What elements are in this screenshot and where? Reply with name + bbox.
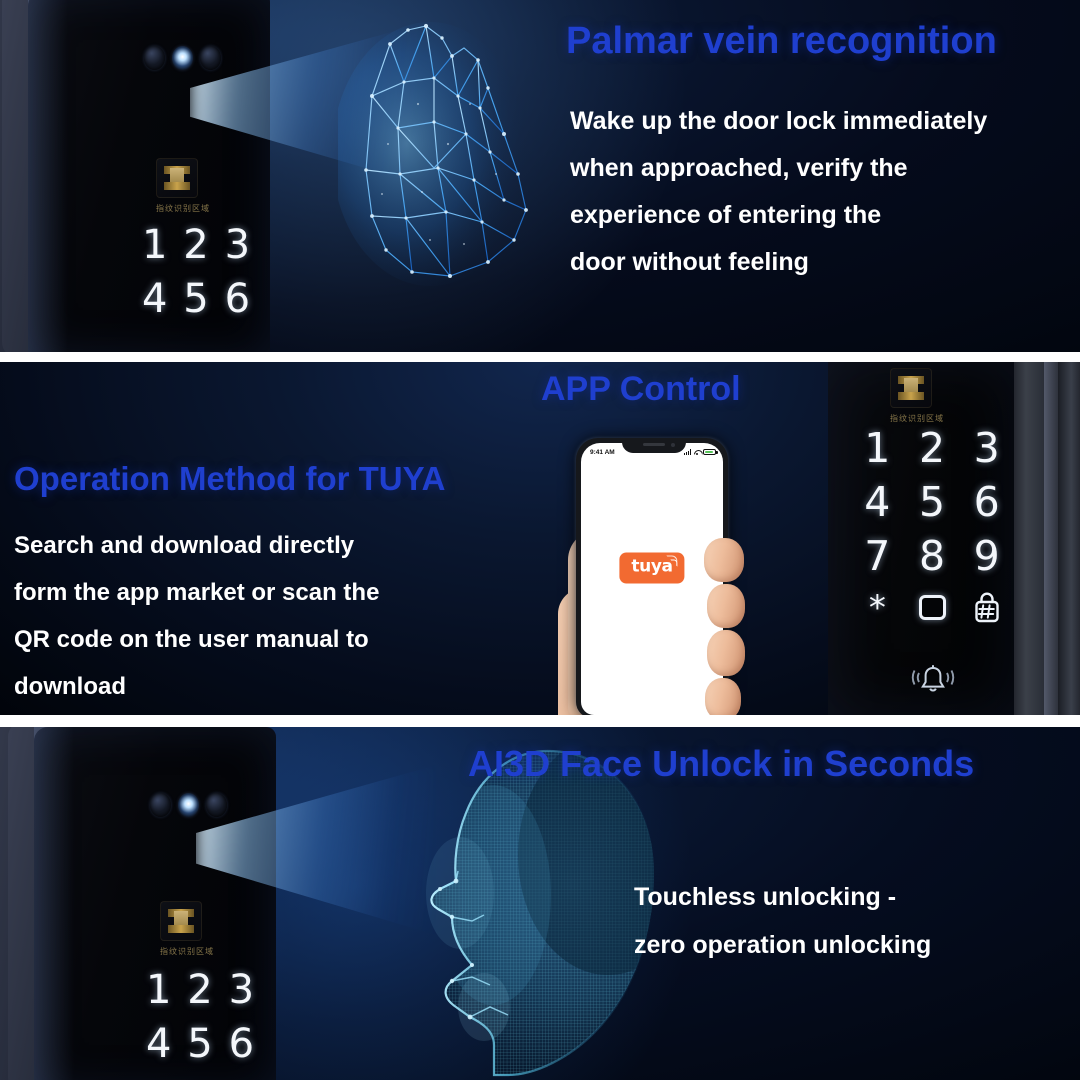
panel-face-unlock: 指纹识别区域 123 456 xyxy=(0,727,1080,1080)
body-line-1: Touchless unlocking - xyxy=(634,873,931,921)
key-3[interactable]: 3 xyxy=(221,967,262,1013)
panel-palmar-vein: 指纹识别区域 123 456 xyxy=(0,0,1080,352)
key-6[interactable]: 6 xyxy=(221,1021,262,1067)
doorbell-button-mid[interactable] xyxy=(907,662,959,701)
lock-hash-icon xyxy=(972,592,1002,623)
body-line-2: when approached, verify the xyxy=(570,145,987,192)
headline-app-control: APP Control xyxy=(541,370,741,409)
headline-face-unlock: AI3D Face Unlock in Seconds xyxy=(468,743,974,785)
panel-app-control: APP Control Operation Method for TUYA Se… xyxy=(0,362,1080,715)
key-9[interactable]: 9 xyxy=(959,532,1014,580)
key-star[interactable]: * xyxy=(850,593,905,623)
smartphone-in-hand: 9:41 AM tuya xyxy=(568,438,740,715)
key-1[interactable]: 1 xyxy=(134,222,175,268)
key-5[interactable]: 5 xyxy=(179,1021,220,1067)
body-line-1: Wake up the door lock immediately xyxy=(570,98,987,145)
key-6[interactable]: 6 xyxy=(217,276,258,322)
headline-palmar-vein: Palmar vein recognition xyxy=(566,20,997,63)
key-5[interactable]: 5 xyxy=(175,276,216,322)
body-text-palmar-vein: Wake up the door lock immediately when a… xyxy=(570,98,987,286)
ir-sensor-icon xyxy=(150,793,171,817)
earpiece-speaker xyxy=(643,443,665,446)
battery-icon xyxy=(703,449,716,456)
door-lock-device-bottom: 指纹识别区域 123 456 xyxy=(0,727,272,1080)
body-line-3: QR code on the user manual to xyxy=(14,616,379,663)
key-hash-lock[interactable] xyxy=(959,592,1014,623)
rgb-camera-icon xyxy=(200,46,221,70)
tuya-app-logo: tuya xyxy=(619,553,684,584)
body-line-1: Search and download directly xyxy=(14,522,379,569)
finger-1 xyxy=(704,538,744,582)
front-camera-icon xyxy=(671,443,675,447)
key-4[interactable]: 4 xyxy=(134,276,175,322)
key-2[interactable]: 2 xyxy=(905,424,960,472)
door-lock-device-top: 指纹识别区域 123 456 xyxy=(0,0,266,352)
keypad-mid: 123 456 789 * xyxy=(850,424,1014,623)
key-2[interactable]: 2 xyxy=(179,967,220,1013)
ir-emitter-icon xyxy=(178,793,199,817)
finger-4 xyxy=(705,678,741,715)
camera-sensor-array-top xyxy=(144,46,221,70)
fingerprint-sensor-mid: 指纹识别区域 xyxy=(890,368,944,424)
key-3[interactable]: 3 xyxy=(217,222,258,268)
panel-divider-1 xyxy=(0,352,1080,362)
key-3[interactable]: 3 xyxy=(959,424,1014,472)
key-4[interactable]: 4 xyxy=(138,1021,179,1067)
key-1[interactable]: 1 xyxy=(138,967,179,1013)
key-8[interactable]: 8 xyxy=(905,532,960,580)
signal-icon xyxy=(684,449,691,455)
wireframe-hand-graphic xyxy=(338,4,578,304)
finger-3 xyxy=(707,630,745,676)
key-2[interactable]: 2 xyxy=(175,222,216,268)
phone-screen[interactable]: 9:41 AM tuya xyxy=(581,443,723,715)
headline-operation-method: Operation Method for TUYA xyxy=(14,460,445,498)
ir-emitter-icon xyxy=(172,46,193,70)
body-line-4: download xyxy=(14,663,379,710)
key-5[interactable]: 5 xyxy=(905,478,960,526)
key-6[interactable]: 6 xyxy=(959,478,1014,526)
key-1[interactable]: 1 xyxy=(850,424,905,472)
finger-2 xyxy=(707,584,745,628)
key-7[interactable]: 7 xyxy=(850,532,905,580)
fingerprint-sensor-bottom: 指纹识别区域 xyxy=(160,901,214,957)
wifi-icon xyxy=(694,449,701,455)
camera-sensor-array-bottom xyxy=(150,793,227,817)
door-lock-device-mid: 指纹识别区域 123 456 789 * xyxy=(828,362,1080,715)
body-line-3: experience of entering the xyxy=(570,192,987,239)
panel-divider-2 xyxy=(0,715,1080,727)
key-4[interactable]: 4 xyxy=(850,478,905,526)
doorbell-icon xyxy=(907,662,959,696)
keypad-bottom: 123 456 xyxy=(138,967,262,1067)
body-text-app-control: Search and download directly form the ap… xyxy=(14,522,379,710)
fingerprint-sensor-top: 指纹识别区域 xyxy=(156,158,210,214)
rgb-camera-icon xyxy=(206,793,227,817)
phone-notch xyxy=(622,438,686,453)
key-confirm[interactable] xyxy=(905,595,960,620)
body-line-2: zero operation unlocking xyxy=(634,921,931,969)
ir-sensor-icon xyxy=(144,46,165,70)
wifi-arc-icon xyxy=(667,556,678,567)
body-text-face-unlock: Touchless unlocking - zero operation unl… xyxy=(634,873,931,969)
body-line-2: form the app market or scan the xyxy=(14,569,379,616)
status-time: 9:41 AM xyxy=(590,449,615,456)
body-line-4: door without feeling xyxy=(570,239,987,286)
poster-root: 指纹识别区域 123 456 xyxy=(0,0,1080,1080)
keypad-top: 123 456 xyxy=(134,222,258,322)
